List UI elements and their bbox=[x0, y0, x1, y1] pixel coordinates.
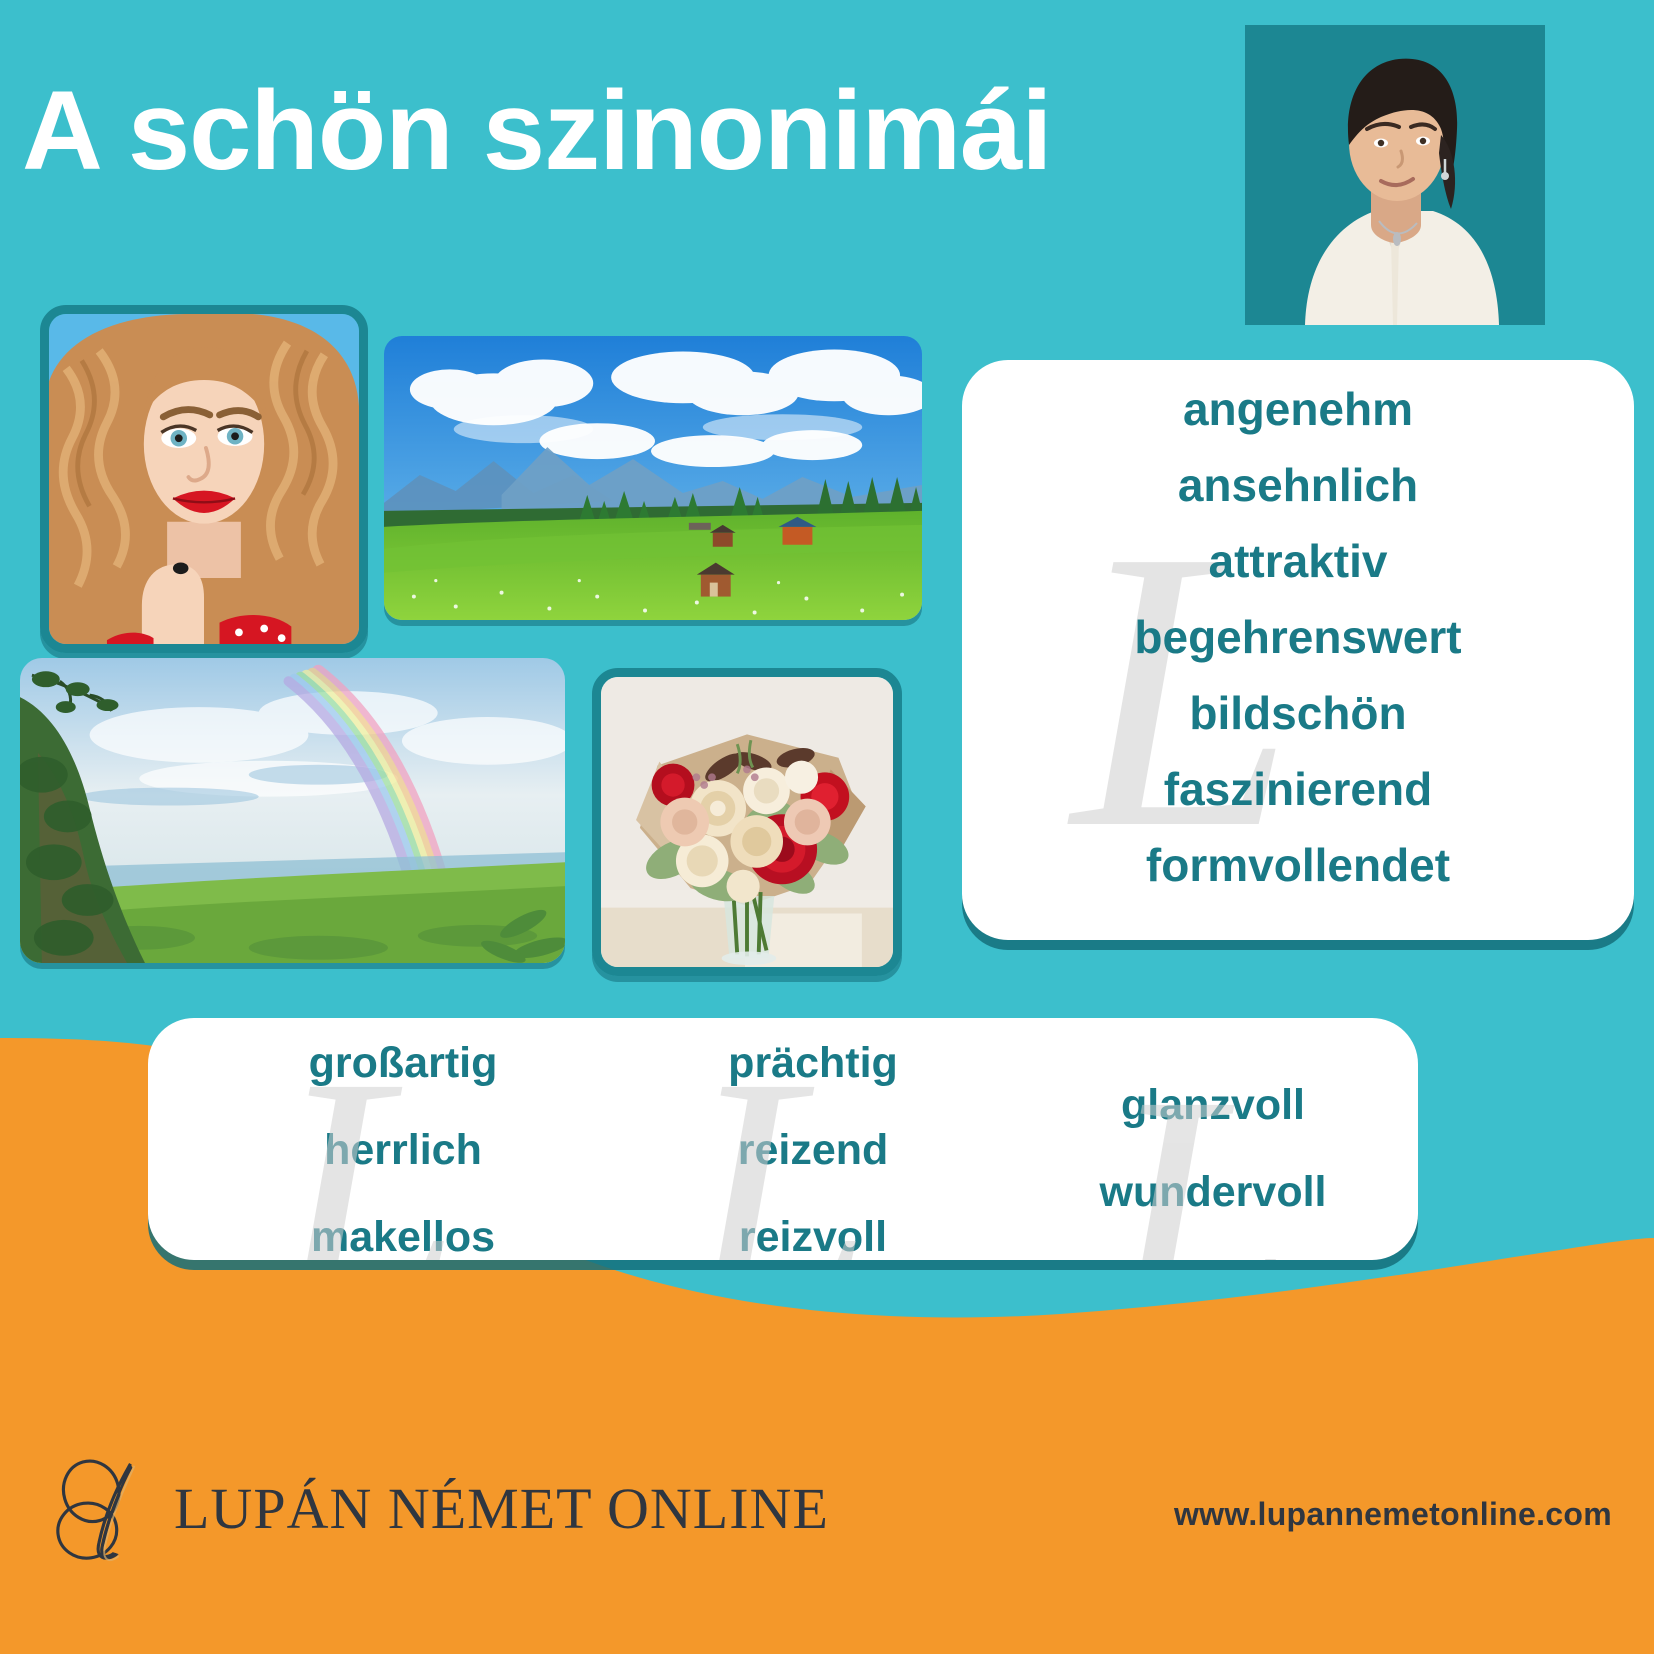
synonym-word: wundervoll bbox=[1028, 1171, 1398, 1214]
synonym-word: prächtig bbox=[628, 1042, 998, 1085]
synonym-word: bildschön bbox=[962, 690, 1634, 736]
synonym-panel-bottom: L L L großartig herrlich makellos prächt… bbox=[148, 1018, 1418, 1260]
synonym-column-2: prächtig reizend reizvoll bbox=[628, 1042, 998, 1260]
page-title: A schön szinonimái bbox=[22, 72, 1202, 190]
synonym-word: großartig bbox=[218, 1042, 588, 1085]
synonym-word: reizend bbox=[628, 1129, 998, 1172]
synonym-word: begehrenswert bbox=[962, 614, 1634, 660]
synonym-word: formvollendet bbox=[962, 842, 1634, 888]
synonym-word: ansehnlich bbox=[962, 462, 1634, 508]
brand-logo: LUPÁN NÉMET ONLINE bbox=[48, 1452, 829, 1564]
photo-woman-with-wavy-hair bbox=[40, 305, 368, 653]
infographic-canvas: A schön szinonimái bbox=[0, 0, 1654, 1654]
synonym-word: reizvoll bbox=[628, 1216, 998, 1259]
synonym-column-1: großartig herrlich makellos bbox=[218, 1042, 588, 1260]
script-l-monogram-icon bbox=[48, 1452, 156, 1564]
synonym-list-right: angenehm ansehnlich attraktiv begehrensw… bbox=[962, 360, 1634, 888]
website-url[interactable]: www.lupannemetonline.com bbox=[1174, 1496, 1612, 1533]
photo-alpine-meadow bbox=[384, 336, 922, 620]
synonym-column-3: glanzvoll wundervoll bbox=[1028, 1084, 1398, 1258]
synonym-word: glanzvoll bbox=[1028, 1084, 1398, 1127]
photo-flower-bouquet bbox=[592, 668, 902, 976]
synonym-word: attraktiv bbox=[962, 538, 1634, 584]
synonym-panel-right: L angenehm ansehnlich attraktiv begehren… bbox=[962, 360, 1634, 940]
synonym-word: makellos bbox=[218, 1216, 588, 1259]
synonym-word: angenehm bbox=[962, 386, 1634, 432]
author-portrait bbox=[1245, 25, 1545, 325]
synonym-word: faszinierend bbox=[962, 766, 1634, 812]
photo-rainbow-over-valley bbox=[20, 658, 565, 963]
brand-name: LUPÁN NÉMET ONLINE bbox=[174, 1475, 829, 1542]
synonym-word: herrlich bbox=[218, 1129, 588, 1172]
